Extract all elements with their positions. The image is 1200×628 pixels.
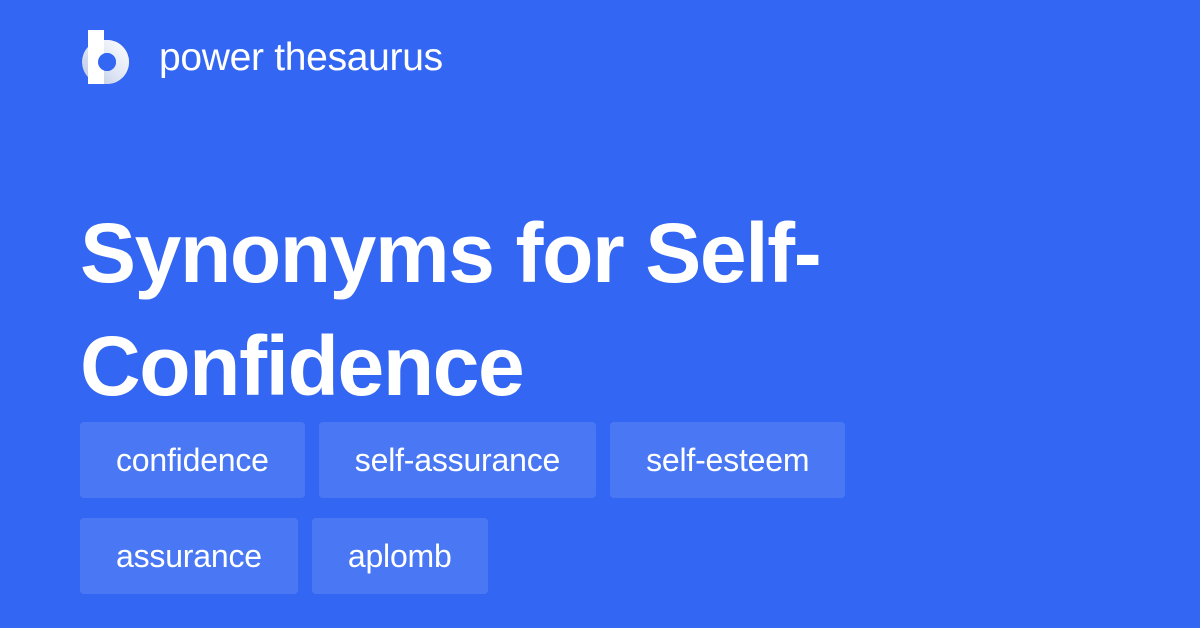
synonym-pill[interactable]: confidence	[80, 422, 305, 498]
page-title: Synonyms for Self-Confidence	[80, 197, 980, 423]
brand-lockup[interactable]: power thesaurus	[80, 28, 443, 86]
power-thesaurus-b-logo-icon	[80, 29, 132, 85]
share-card: power thesaurus Synonyms for Self-Confid…	[0, 0, 1200, 628]
synonym-row: confidence self-assurance self-esteem	[80, 422, 1120, 498]
synonym-pill[interactable]: self-assurance	[319, 422, 596, 498]
synonym-pill[interactable]: aplomb	[312, 518, 488, 594]
synonym-pill-list: confidence self-assurance self-esteem as…	[80, 422, 1120, 594]
brand-wordmark: power thesaurus	[159, 38, 443, 77]
synonym-row: assurance aplomb	[80, 518, 1120, 594]
synonym-pill[interactable]: self-esteem	[610, 422, 845, 498]
synonym-pill[interactable]: assurance	[80, 518, 298, 594]
